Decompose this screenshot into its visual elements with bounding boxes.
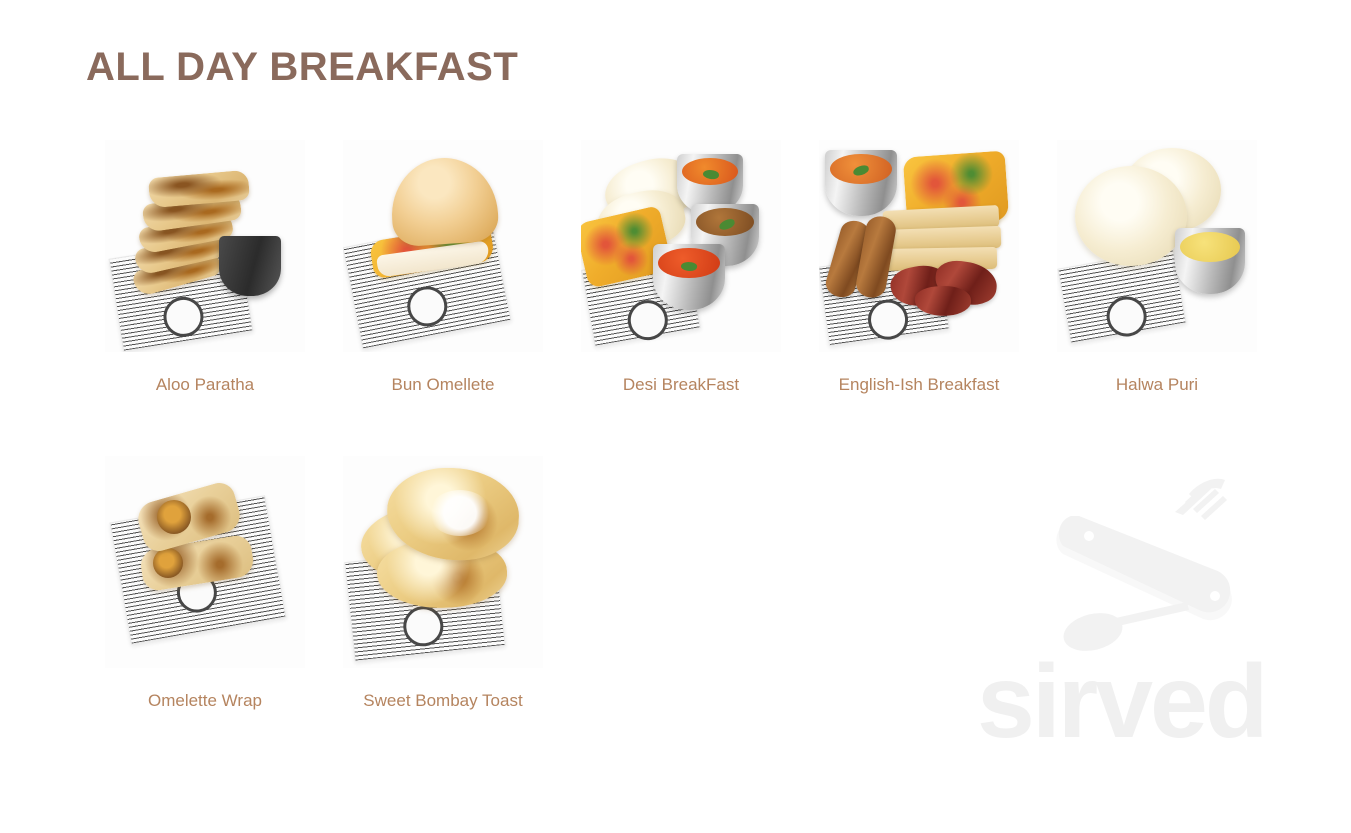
menu-item-label: Sweet Bombay Toast	[363, 690, 522, 712]
omelette-wrap-photo[interactable]	[105, 456, 305, 668]
desi-breakfast-photo[interactable]	[581, 140, 781, 352]
halwa-puri-photo[interactable]	[1057, 140, 1257, 352]
menu-item-label: Bun Omellete	[392, 374, 495, 396]
aloo-paratha-photo[interactable]	[105, 140, 305, 352]
food-illustration	[343, 140, 543, 352]
menu-item-label: English-Ish Breakfast	[839, 374, 1000, 396]
menu-item-label: Omelette Wrap	[148, 690, 262, 712]
food-illustration	[105, 140, 305, 352]
menu-item-halwa-puri[interactable]: Halwa Puri	[1038, 140, 1276, 396]
bun-omellete-photo[interactable]	[343, 140, 543, 352]
food-illustration	[343, 456, 543, 668]
menu-item-label: Aloo Paratha	[156, 374, 254, 396]
menu-item-bun-omellete[interactable]: Bun Omellete	[324, 140, 562, 396]
food-illustration	[1057, 140, 1257, 352]
page-title: ALL DAY BREAKFAST	[86, 45, 518, 89]
food-illustration	[581, 140, 781, 352]
english-ish-breakfast-photo[interactable]	[819, 140, 1019, 352]
menu-item-label: Halwa Puri	[1116, 374, 1198, 396]
food-illustration	[105, 456, 305, 668]
menu-item-aloo-paratha[interactable]: Aloo Paratha	[86, 140, 324, 396]
menu-item-label: Desi BreakFast	[623, 374, 739, 396]
menu-item-sweet-bombay-toast[interactable]: Sweet Bombay Toast	[324, 456, 562, 712]
food-illustration	[819, 140, 1019, 352]
menu-item-omelette-wrap[interactable]: Omelette Wrap	[86, 456, 324, 712]
menu-item-grid: Aloo Paratha Bun Omellete	[86, 140, 1276, 712]
menu-item-desi-breakfast[interactable]: Desi BreakFast	[562, 140, 800, 396]
menu-item-english-ish-breakfast[interactable]: English-Ish Breakfast	[800, 140, 1038, 396]
sweet-bombay-toast-photo[interactable]	[343, 456, 543, 668]
